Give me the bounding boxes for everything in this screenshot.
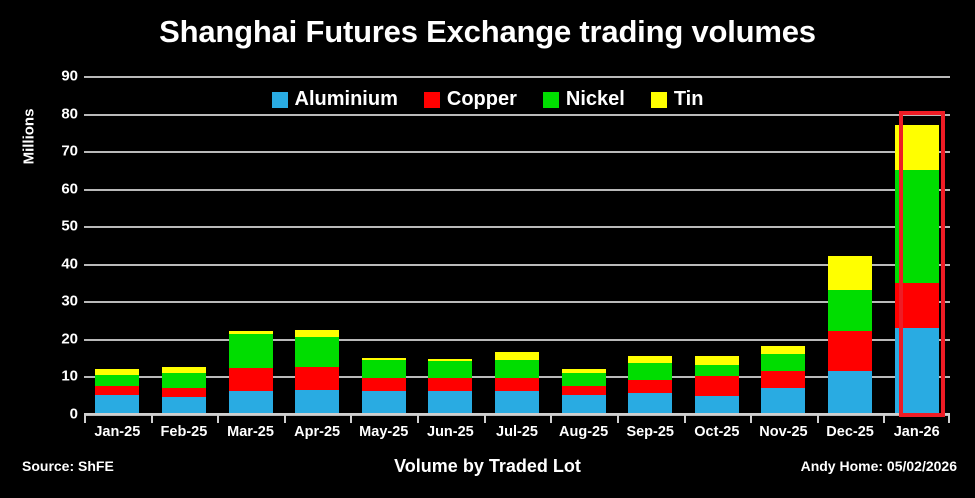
bar-segment-copper: [229, 368, 273, 392]
x-tick-label: Sep-25: [626, 424, 674, 440]
x-tick: [151, 414, 153, 423]
y-tick-label: 10: [20, 368, 78, 385]
chart-container: Shanghai Futures Exchange trading volume…: [0, 0, 975, 498]
bar-segment-copper: [628, 380, 672, 393]
bar-slot: [484, 76, 551, 414]
bar-segment-nickel: [628, 363, 672, 380]
bar-segment-aluminium: [695, 396, 739, 414]
bar-slot: [217, 76, 284, 414]
bar-segment-tin: [295, 330, 339, 338]
bar-segment-copper: [895, 283, 939, 328]
bar-segment-nickel: [428, 361, 472, 378]
y-tick-label: 40: [20, 255, 78, 272]
stacked-bar[interactable]: [362, 358, 406, 414]
bar-segment-aluminium: [562, 395, 606, 414]
legend-swatch-tin-icon: [651, 92, 667, 108]
stacked-bar[interactable]: [761, 346, 805, 414]
bar-slot: [350, 76, 417, 414]
stacked-bar[interactable]: [695, 356, 739, 414]
bar-segment-nickel: [495, 360, 539, 379]
stacked-bar[interactable]: [562, 369, 606, 414]
x-tick: [948, 414, 950, 423]
bar-segment-nickel: [295, 337, 339, 367]
stacked-bar[interactable]: [229, 331, 273, 414]
bar-segment-aluminium: [162, 397, 206, 414]
bar-segment-copper: [95, 386, 139, 395]
legend-label: Tin: [674, 88, 704, 111]
bar-segment-aluminium: [761, 388, 805, 414]
stacked-bar[interactable]: [295, 330, 339, 414]
bar-segment-nickel: [362, 360, 406, 378]
chart-title: Shanghai Futures Exchange trading volume…: [0, 14, 975, 50]
y-tick-label: 30: [20, 293, 78, 310]
x-tick: [550, 414, 552, 423]
bar-segment-copper: [828, 331, 872, 370]
bar-slot: [817, 76, 884, 414]
x-tick: [417, 414, 419, 423]
y-tick-label: 0: [20, 406, 78, 423]
legend-swatch-aluminium-icon: [272, 92, 288, 108]
legend-label: Copper: [447, 88, 517, 111]
stacked-bar[interactable]: [628, 356, 672, 414]
y-tick-label: 50: [20, 218, 78, 235]
x-tick-label: May-25: [359, 424, 408, 440]
x-tick: [284, 414, 286, 423]
x-tick-label: Dec-25: [826, 424, 874, 440]
x-tick-label: Jun-25: [427, 424, 474, 440]
x-tick: [617, 414, 619, 423]
x-tick: [817, 414, 819, 423]
bar-slot: [617, 76, 684, 414]
x-tick-label: Oct-25: [694, 424, 739, 440]
legend-item-nickel[interactable]: Nickel: [543, 88, 625, 111]
legend-item-copper[interactable]: Copper: [424, 88, 517, 111]
bar-segment-copper: [761, 371, 805, 388]
bar-segment-tin: [761, 346, 805, 354]
x-tick-label: Aug-25: [559, 424, 608, 440]
bar-segment-aluminium: [495, 391, 539, 414]
bar-segment-nickel: [95, 375, 139, 386]
stacked-bar[interactable]: [95, 369, 139, 414]
x-tick: [684, 414, 686, 423]
bar-segment-nickel: [229, 334, 273, 368]
stacked-bar[interactable]: [895, 125, 939, 414]
bar-segment-tin: [695, 356, 739, 365]
bar-segment-nickel: [562, 373, 606, 386]
x-tick-label: Jul-25: [496, 424, 538, 440]
chart-legend: AluminiumCopperNickelTin: [0, 88, 975, 111]
bar-segment-nickel: [162, 373, 206, 388]
bar-segment-aluminium: [428, 391, 472, 414]
bar-slot: [284, 76, 351, 414]
bar-slot: [883, 76, 950, 414]
x-tick: [84, 414, 86, 423]
bar-segment-nickel: [695, 365, 739, 376]
bar-segment-copper: [428, 378, 472, 391]
bar-segment-copper: [562, 386, 606, 395]
bar-segment-aluminium: [628, 393, 672, 414]
x-tick-label: Nov-25: [759, 424, 807, 440]
bar-slot: [750, 76, 817, 414]
stacked-bar[interactable]: [162, 367, 206, 414]
x-tick-label: Jan-25: [94, 424, 140, 440]
bar-segment-aluminium: [828, 371, 872, 414]
legend-swatch-copper-icon: [424, 92, 440, 108]
y-tick-label: 90: [20, 68, 78, 85]
bar-segment-copper: [695, 376, 739, 396]
stacked-bar[interactable]: [428, 359, 472, 414]
bar-segment-aluminium: [95, 395, 139, 414]
bar-segment-tin: [628, 356, 672, 364]
x-tick-label: Feb-25: [161, 424, 208, 440]
bar-slot: [151, 76, 218, 414]
x-tick: [217, 414, 219, 423]
stacked-bar[interactable]: [828, 256, 872, 414]
x-tick: [750, 414, 752, 423]
bar-slot: [84, 76, 151, 414]
bar-slot: [684, 76, 751, 414]
x-tick-label: Jan-26: [894, 424, 940, 440]
bar-segment-nickel: [828, 290, 872, 331]
bar-segment-aluminium: [295, 390, 339, 414]
bar-segment-copper: [162, 388, 206, 397]
plot-area: [84, 76, 950, 414]
legend-label: Nickel: [566, 88, 625, 111]
legend-swatch-nickel-icon: [543, 92, 559, 108]
bar-segment-copper: [495, 378, 539, 391]
bar-segment-copper: [295, 367, 339, 390]
bar-segment-aluminium: [362, 391, 406, 414]
bar-segment-tin: [495, 352, 539, 360]
legend-item-aluminium[interactable]: Aluminium: [272, 88, 398, 111]
x-tick-label: Apr-25: [294, 424, 340, 440]
legend-label: Aluminium: [295, 88, 398, 111]
bar-segment-copper: [362, 378, 406, 391]
bar-slot: [550, 76, 617, 414]
y-tick-label: 70: [20, 143, 78, 160]
x-tick: [883, 414, 885, 423]
x-tick: [350, 414, 352, 423]
bar-segment-tin: [895, 125, 939, 170]
footer-credit: Andy Home: 05/02/2026: [801, 458, 957, 474]
stacked-bar[interactable]: [495, 352, 539, 414]
bar-segment-aluminium: [895, 328, 939, 414]
bar-segment-nickel: [895, 170, 939, 283]
legend-item-tin[interactable]: Tin: [651, 88, 704, 111]
y-tick-label: 60: [20, 180, 78, 197]
bar-segment-nickel: [761, 354, 805, 371]
bar-slot: [417, 76, 484, 414]
x-axis-tick-labels: Jan-25Feb-25Mar-25Apr-25May-25Jun-25Jul-…: [84, 424, 950, 448]
bar-segment-aluminium: [229, 391, 273, 414]
x-tick-label: Mar-25: [227, 424, 274, 440]
y-axis-tick-labels: 9080706050403020100: [12, 76, 78, 414]
y-tick-label: 20: [20, 330, 78, 347]
bar-segment-tin: [828, 256, 872, 290]
x-tick: [484, 414, 486, 423]
x-axis-ticks: [84, 414, 950, 423]
